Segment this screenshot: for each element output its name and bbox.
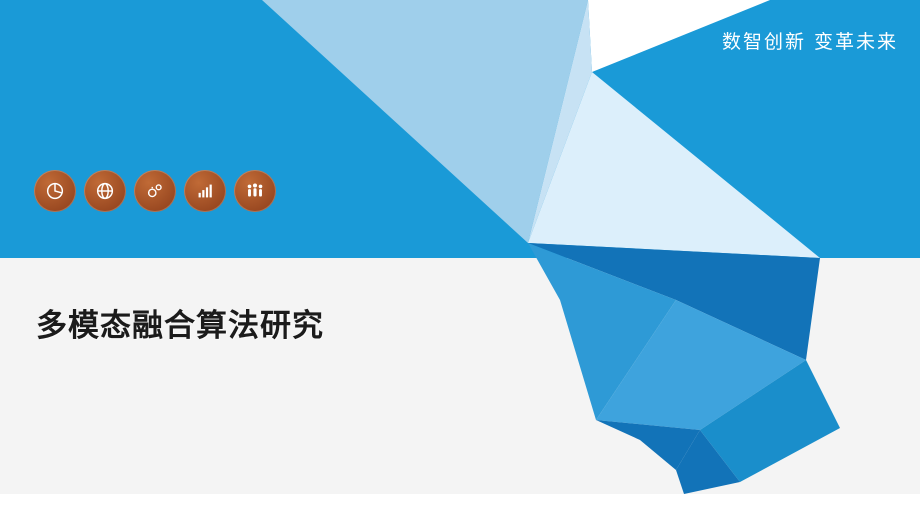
presentation-slide: 数智创新 变革未来 bbox=[0, 0, 920, 518]
page-title: 多模态融合算法研究 bbox=[36, 300, 324, 345]
icon-badge-row bbox=[34, 170, 276, 212]
gears-icon bbox=[134, 170, 176, 212]
bar-chart-icon bbox=[184, 170, 226, 212]
bottom-white-strip bbox=[0, 494, 920, 518]
globe-icon bbox=[84, 170, 126, 212]
pie-chart-icon bbox=[34, 170, 76, 212]
people-group-icon bbox=[234, 170, 276, 212]
slide-tagline: 数智创新 变革未来 bbox=[722, 27, 898, 54]
polygon-decoration bbox=[0, 0, 920, 518]
